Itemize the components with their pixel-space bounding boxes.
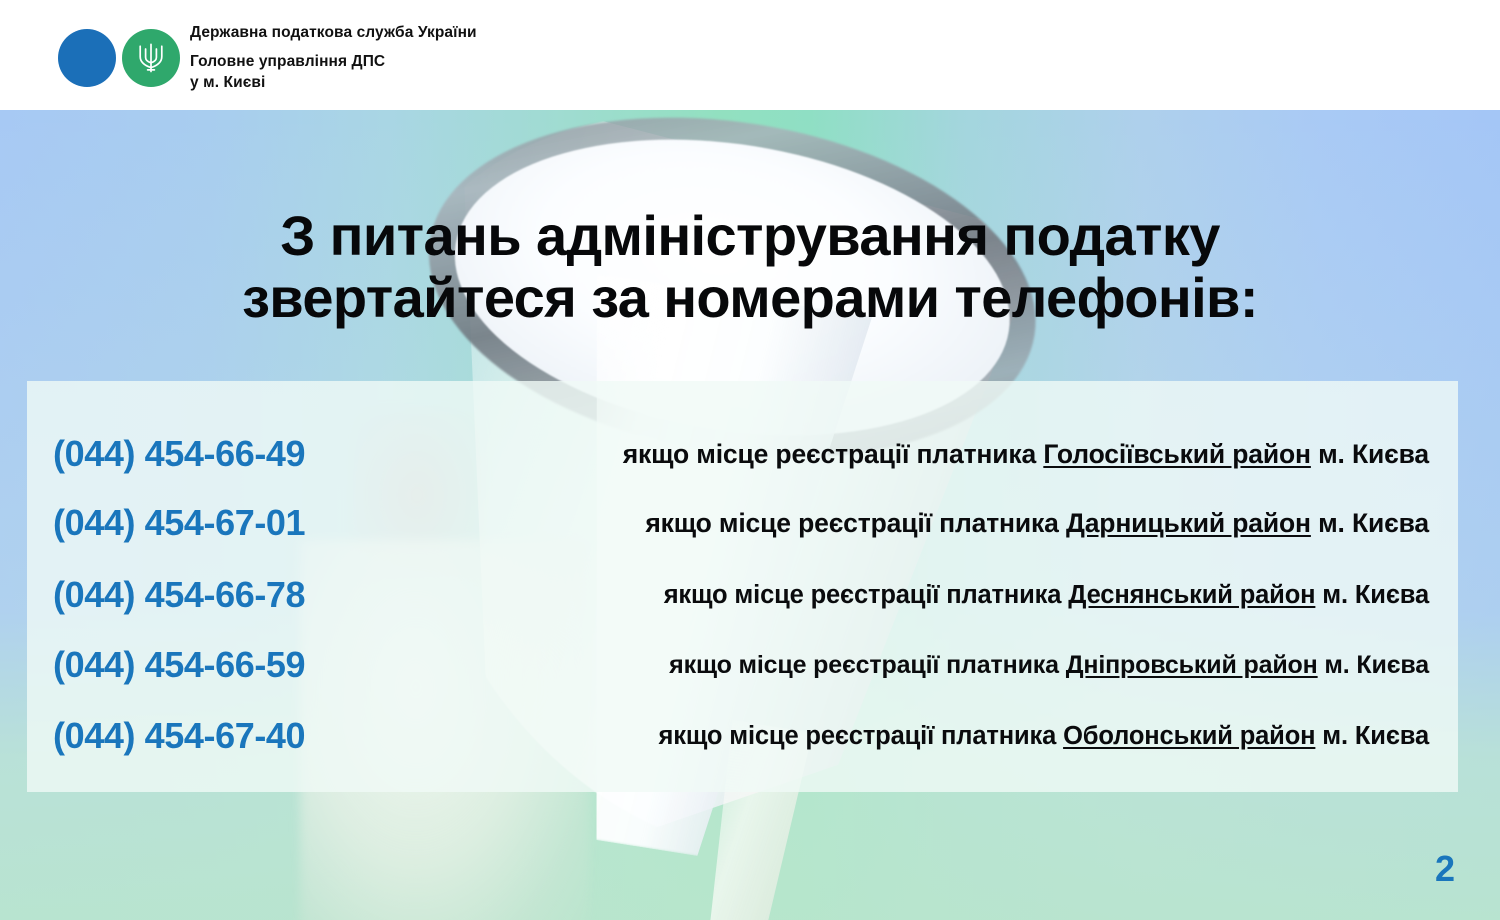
contact-row[interactable]: (044) 454-67-01 якщо місце реєстрації пл… — [27, 497, 1458, 549]
header-bar: Державна податкова служба України Головн… — [0, 0, 1500, 110]
phone-number[interactable]: (044) 454-66-78 — [27, 574, 399, 616]
description-prefix: якщо місце реєстрації платника — [669, 651, 1066, 679]
description-suffix: м. Києва — [1311, 508, 1429, 538]
org-name-line2-part1: Головне управління ДПС — [190, 53, 385, 70]
contacts-list: (044) 454-66-49 якщо місце реєстрації пл… — [27, 381, 1458, 792]
phone-number[interactable]: (044) 454-67-01 — [27, 502, 399, 544]
contact-row[interactable]: (044) 454-67-40 якщо місце реєстрації пл… — [27, 710, 1458, 762]
contact-row[interactable]: (044) 454-66-78 якщо місце реєстрації пл… — [27, 569, 1458, 621]
phone-number[interactable]: (044) 454-66-59 — [27, 644, 399, 686]
district-name: Деснянський район — [1068, 581, 1315, 609]
org-name-line2: Головне управління ДПС у м. Києві — [190, 51, 890, 94]
description-prefix: якщо місце реєстрації платника — [645, 508, 1066, 538]
description-suffix: м. Києва — [1318, 651, 1429, 679]
phone-number[interactable]: (044) 454-66-49 — [27, 433, 399, 475]
district-name: Дарницький район — [1066, 508, 1311, 538]
district-name: Оболонський район — [1063, 722, 1315, 750]
header-org-text: Державна податкова служба України Головн… — [190, 24, 890, 94]
contact-row[interactable]: (044) 454-66-49 якщо місце реєстрації пл… — [27, 428, 1458, 480]
description-prefix: якщо місце реєстрації платника — [659, 722, 1064, 750]
contact-description: якщо місце реєстрації платника Деснянськ… — [399, 581, 1458, 610]
contact-description: якщо місце реєстрації платника Дарницьки… — [399, 508, 1458, 539]
page-number: 2 — [1435, 851, 1455, 887]
slide-root: Державна податкова служба України Головн… — [0, 0, 1500, 920]
description-prefix: якщо місце реєстрації платника — [664, 581, 1069, 609]
ukraine-trident-icon — [122, 29, 180, 87]
contact-description: якщо місце реєстрації платника Голосіївс… — [399, 439, 1458, 470]
logo-blue-circle-icon — [58, 29, 116, 87]
logo — [58, 29, 180, 87]
description-suffix: м. Києва — [1315, 722, 1429, 750]
phone-number[interactable]: (044) 454-67-40 — [27, 715, 399, 757]
org-name-line3-part2: у м. Києві — [190, 74, 265, 91]
contact-description: якщо місце реєстрації платника Оболонськ… — [399, 722, 1458, 751]
district-name: Голосіївський район — [1043, 439, 1311, 469]
org-name-line1: Державна податкова служба України — [190, 24, 890, 42]
description-prefix: якщо місце реєстрації платника — [623, 439, 1044, 469]
description-suffix: м. Києва — [1311, 439, 1429, 469]
description-suffix: м. Києва — [1315, 581, 1429, 609]
contact-description: якщо місце реєстрації платника Дніпровсь… — [399, 651, 1458, 680]
contact-row[interactable]: (044) 454-66-59 якщо місце реєстрації пл… — [27, 639, 1458, 691]
district-name: Дніпровський район — [1066, 651, 1318, 679]
